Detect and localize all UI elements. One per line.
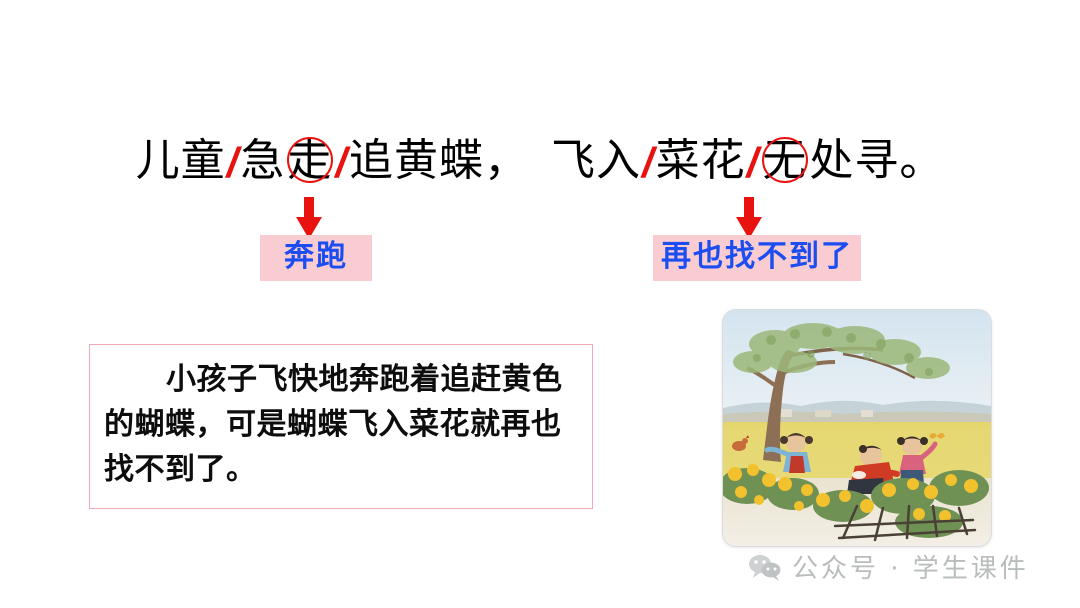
down-arrow-icon-not-found (736, 197, 762, 239)
poem-word-ertong: 儿童 (136, 132, 226, 190)
watermark-text: 公众号 · 学生课件 (792, 548, 1029, 585)
illustration-image (722, 309, 992, 547)
poem-circled-wu: 无 (760, 132, 809, 190)
poem-circled-zou: 走 (285, 132, 334, 190)
translation-box: 小孩子飞快地奔跑着追赶黄色的蝴蝶，可是蝴蝶飞入菜花就再也找不到了。 (89, 344, 593, 509)
watermark: 公众号 · 学生课件 (748, 548, 1029, 585)
wechat-icon (748, 553, 782, 581)
poem-slash-2: / (334, 134, 349, 192)
poem-slash-3: / (641, 134, 656, 192)
poem-word-chuxun: 处寻。 (809, 132, 944, 190)
poem-word-ji: 急 (240, 132, 285, 190)
poem-word-caihua: 菜花 (656, 132, 746, 190)
poem-slash-1: / (226, 134, 241, 192)
annotation-box-run: 奔跑 (260, 235, 372, 281)
illustration-svg (723, 310, 991, 546)
annotation-box-not-found: 再也找不到了 (653, 235, 861, 281)
poem-word-zhuihuangdie: 追黄蝶， (349, 132, 529, 190)
poem-line: 儿童/急走/追黄蝶，飞入/菜花/无处寻。 (0, 132, 1080, 190)
wechat-icon-svg (748, 553, 782, 581)
poem-slash-4: / (746, 134, 761, 192)
translation-text: 小孩子飞快地奔跑着追赶黄色的蝴蝶，可是蝴蝶飞入菜花就再也找不到了。 (104, 357, 578, 492)
arrow-stem (304, 197, 314, 219)
poem-word-feiru: 飞入 (551, 132, 641, 190)
down-arrow-icon-run (296, 197, 322, 239)
slide-canvas: 儿童/急走/追黄蝶，飞入/菜花/无处寻。 奔跑 再也找不到了 小孩子飞快地奔跑着… (0, 0, 1080, 608)
arrow-stem (744, 197, 754, 219)
